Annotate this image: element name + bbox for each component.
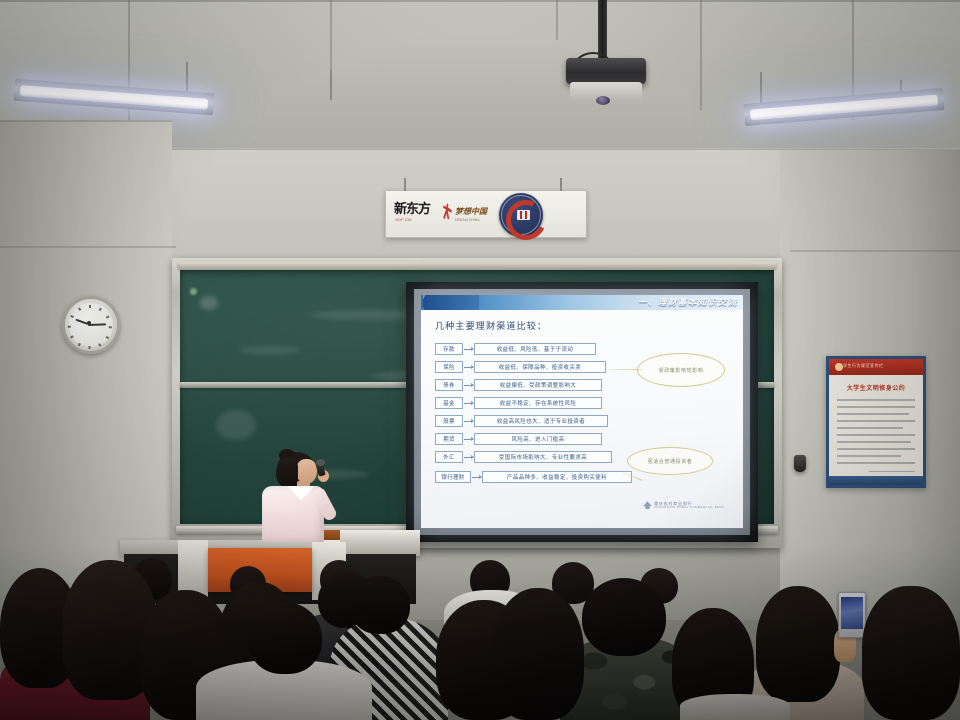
audience-head-longhair — [862, 586, 960, 720]
smartphone-screen — [841, 597, 863, 629]
row-value: 收益偏低、受政策调整影响大 — [474, 379, 602, 391]
row-value: 收益低、保障品种、投资收买卖 — [474, 361, 606, 373]
slide-row: 基金 收益不稳定、存在系统性风险 — [435, 397, 602, 409]
slide-header-bar: 一、理财基本知识交流 — [421, 295, 743, 310]
new-oriental-logo-text: 新东方 — [394, 202, 430, 215]
audience-head — [248, 602, 322, 674]
row-value: 产品品种多、收益稳定、投资购买便利 — [482, 471, 632, 483]
row-arrow-icon — [464, 439, 473, 440]
wall-poster: 学生行为规范宣传栏 大学生文明修身公约 — [826, 356, 926, 488]
bank-logo-icon — [643, 501, 652, 509]
row-key: 股票 — [435, 415, 463, 427]
slide-row: 银行理财 产品品种多、收益稳定、投资购买便利 — [435, 471, 632, 483]
row-value: 收益不稳定、存在系统性风险 — [474, 397, 602, 409]
wall-speaker-right — [794, 455, 806, 472]
audience-head — [350, 576, 410, 634]
row-arrow-icon — [464, 403, 473, 404]
bank-name-en: CHONGQING RURAL COMMERCIAL BANK — [654, 506, 724, 509]
slide-footer-logo: 重庆农村商业银行 CHONGQING RURAL COMMERCIAL BANK — [643, 501, 724, 509]
dream-figure-icon — [443, 203, 452, 219]
row-value: 收益低、风险低、基于于流动 — [474, 343, 596, 355]
poster-footer-bar — [829, 476, 923, 485]
slide-row: 保险 收益低、保障品种、投资收买卖 — [435, 361, 606, 373]
projection-screen: 一、理财基本知识交流 几种主要理财渠道比较： 存款 收益低、风险低、基于于流动 … — [406, 282, 758, 542]
classroom-photo: 学生行为规范宣传栏 大学生文明修身公约 新东方 XDF.CN 梦想中国 DREA… — [0, 0, 960, 720]
row-key: 保险 — [435, 361, 463, 373]
row-key: 存款 — [435, 343, 463, 355]
dream-china-logo-text: 梦想中国 — [455, 206, 487, 217]
slide-content: 一、理财基本知识交流 几种主要理财渠道比较： 存款 收益低、风险低、基于于流动 … — [421, 295, 743, 528]
microphone-head — [316, 459, 325, 466]
row-value: 收益高风险也大、适于专业投资者 — [474, 415, 608, 427]
poster-title: 大学生文明修身公约 — [829, 383, 923, 392]
new-oriental-logo-sub: XDF.CN — [395, 217, 411, 222]
row-arrow-icon — [472, 477, 481, 478]
wall-clock — [62, 296, 120, 354]
emblem-core — [517, 210, 530, 220]
slide-row: 债券 收益偏低、受政策调整影响大 — [435, 379, 602, 391]
wall-seam — [0, 246, 176, 248]
row-key: 基金 — [435, 397, 463, 409]
row-key: 银行理财 — [435, 471, 471, 483]
presenter-hair-side — [276, 458, 298, 488]
banner-hook-left — [404, 178, 406, 191]
slide-row: 外汇 受国际市场影响大、专业性要求高 — [435, 451, 612, 463]
row-key: 外汇 — [435, 451, 463, 463]
event-banner: 新东方 XDF.CN 梦想中国 DREAM CHINA — [385, 190, 587, 238]
row-key: 债券 — [435, 379, 463, 391]
callout-recommend-text: 更适合普通投资者 — [648, 458, 693, 465]
audience-head-longhair — [756, 586, 840, 702]
school-emblem — [499, 193, 543, 237]
slide-subtitle: 几种主要理财渠道比较： — [435, 319, 547, 332]
row-value: 受国际市场影响大、专业性要求高 — [474, 451, 612, 463]
light-rod-left2 — [330, 70, 332, 100]
row-arrow-icon — [464, 385, 473, 386]
smartphone — [838, 592, 866, 638]
row-arrow-icon — [464, 367, 473, 368]
wall-seam-right — [790, 250, 960, 252]
podium-shelf — [340, 530, 420, 542]
chalkboard-slide-track — [178, 262, 776, 269]
row-key: 期货 — [435, 433, 463, 445]
left-wall — [0, 120, 172, 590]
slide-header-texture — [423, 295, 479, 310]
poster-header-text: 学生行为规范宣传栏 — [843, 363, 920, 369]
audience-shoulders — [680, 694, 790, 720]
row-arrow-icon — [464, 421, 473, 422]
banner-hook-right — [560, 178, 562, 191]
slide-row: 期货 风险高、进入门槛高 — [435, 433, 602, 445]
projector-lens — [596, 96, 610, 105]
light-rod-right — [760, 72, 762, 104]
callout-policy: 受政策影响较影响 — [637, 353, 725, 387]
slide-row: 股票 收益高风险也大、适于专业投资者 — [435, 415, 608, 427]
dream-china-logo-sub: DREAM CHINA — [455, 218, 480, 222]
audience-head — [582, 578, 666, 656]
row-arrow-icon — [464, 457, 473, 458]
row-arrow-icon — [464, 349, 473, 350]
audience-head-longhair — [492, 588, 584, 720]
callout-recommend: 更适合普通投资者 — [627, 447, 713, 475]
slide-header-title: 一、理财基本知识交流 — [638, 296, 738, 308]
slide-row: 存款 收益低、风险低、基于于流动 — [435, 343, 596, 355]
row-value: 风险高、进入门槛高 — [474, 433, 602, 445]
